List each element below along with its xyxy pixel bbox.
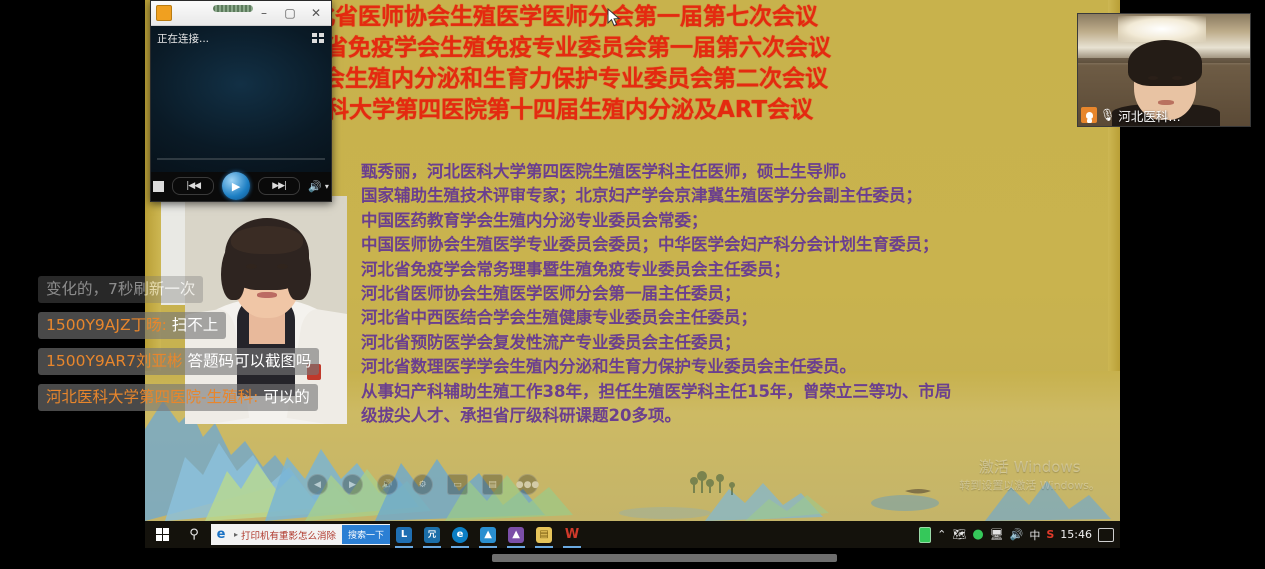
chat-bubble: 河北医科大学第四医院-生殖科: 可以的 bbox=[38, 384, 318, 411]
player-app-icon bbox=[156, 5, 172, 21]
volume-icon[interactable]: 🔊 bbox=[308, 180, 322, 193]
edge-icon: e bbox=[452, 527, 468, 543]
chat-row: 1500Y9AJZ丁旸: 扫不上 bbox=[38, 312, 360, 339]
bio-line: 级拔尖人才、承担省厅级科研课题20多项。 bbox=[361, 404, 1101, 428]
bio-line: 国家辅助生殖技术评审专家；北京妇产学会京津冀生殖医学分会副主任委员； bbox=[361, 184, 1101, 208]
player-status-text: 正在连接... bbox=[157, 31, 209, 46]
volume-caret-icon[interactable]: ▾ bbox=[325, 182, 329, 191]
media-icon: ▲ bbox=[480, 527, 496, 543]
taskbar-app-explorer[interactable]: ▤ bbox=[530, 521, 558, 548]
store-icon: 冗 bbox=[424, 527, 440, 543]
watermark-line1: 激活 Windows bbox=[959, 456, 1100, 477]
bio-line: 河北省免疫学会常务理事暨生殖免疫专业委员会主任委员； bbox=[361, 258, 1101, 282]
webcam-thumbnail[interactable]: 🎙 河北医科… bbox=[1077, 13, 1251, 127]
search-submit-button[interactable]: 搜索一下 bbox=[342, 525, 390, 544]
webcam-eye-right bbox=[1172, 76, 1182, 80]
bio-line: 中国医师协会生殖医学专业委员会委员；中华医学会妇产科分会计划生育委员； bbox=[361, 233, 1101, 257]
photo-bangs bbox=[231, 226, 303, 254]
mouse-cursor bbox=[607, 8, 621, 28]
video-settings-icon[interactable]: ⚙ bbox=[412, 474, 433, 495]
microphone-icon[interactable]: 🎙 bbox=[1100, 108, 1115, 122]
slide-title-line-3: 理医学学会生殖内分泌和生育力保护专业委员会第二次会议 bbox=[230, 64, 1070, 95]
chat-row: 河北医科大学第四医院-生殖科: 可以的 bbox=[38, 384, 360, 411]
volume-control[interactable]: 🔊 ▾ bbox=[308, 180, 329, 193]
video-overlay-controls[interactable]: ◀ ▶ 🔊 ⚙ ▭ ▤ ●●● bbox=[307, 474, 538, 495]
chat-bubble: 1500Y9AJZ丁旸: 扫不上 bbox=[38, 312, 226, 339]
horizontal-scrollbar-track[interactable] bbox=[0, 548, 1265, 569]
stop-button[interactable] bbox=[153, 181, 164, 192]
player-video-area[interactable]: 正在连接... bbox=[151, 26, 331, 172]
ime-indicator[interactable]: 中 bbox=[1029, 527, 1040, 543]
previous-button[interactable]: |◀◀ bbox=[172, 177, 214, 195]
close-button[interactable]: ✕ bbox=[303, 1, 329, 25]
shield-icon[interactable]: ● bbox=[972, 527, 983, 542]
wps-icon: W bbox=[564, 527, 580, 543]
chat-row: 1500Y9AR7刘亚彬 答题码可以截图吗 bbox=[38, 348, 360, 375]
window-buttons: – ▢ ✕ bbox=[251, 1, 329, 25]
player-layout-icon[interactable] bbox=[312, 33, 324, 43]
snipaste-icon[interactable]: S bbox=[1046, 528, 1054, 541]
chat-username: 河北医科大学第四医院-生殖科: bbox=[46, 388, 258, 406]
chat-message-text: 答题码可以截图吗 bbox=[187, 352, 311, 370]
search-suggestion-bar[interactable]: e ▸ 打印机有重影怎么消除 搜索一下 bbox=[211, 524, 390, 545]
windows-activation-watermark: 激活 Windows 转到设置以激活 Windows。 bbox=[959, 456, 1100, 493]
video-volume-icon[interactable]: 🔊 bbox=[377, 474, 398, 495]
chat-row: 变化的，7秒刷新一次 bbox=[38, 276, 360, 303]
slide-title-line-4: 北医科大学第四医院第十四届生殖内分泌及ART会议 bbox=[280, 95, 1070, 126]
windows-taskbar: ⚲ e ▸ 打印机有重影怎么消除 搜索一下 L 冗 e ▲ ▲ ▤ W bbox=[145, 521, 1120, 548]
photos-icon: ▲ bbox=[508, 527, 524, 543]
taskbar-app-lync[interactable]: L bbox=[390, 521, 418, 548]
player-titlebar[interactable]: – ▢ ✕ bbox=[151, 1, 331, 26]
bio-line: 甄秀丽，河北医科大学第四医院生殖医学科主任医师，硕士生导师。 bbox=[361, 160, 1101, 184]
search-query-text: 打印机有重影怎么消除 bbox=[241, 528, 342, 542]
photo-eye-right bbox=[277, 264, 288, 269]
chat-username: 1500Y9AR7刘亚彬 bbox=[46, 352, 183, 370]
bio-line: 从事妇产科辅助生殖工作38年，担任生殖医学科主任15年，曾荣立三等功、市局 bbox=[361, 380, 1101, 404]
start-button[interactable] bbox=[145, 521, 179, 548]
player-controls: |◀◀ ▶ ▶▶| 🔊 ▾ bbox=[151, 172, 331, 200]
file-explorer-icon: ▤ bbox=[536, 527, 552, 543]
photo-eye-left bbox=[246, 264, 257, 269]
bio-line: 河北省数理医学学会生殖内分泌和生育力保护专业委员会主任委员。 bbox=[361, 355, 1101, 379]
next-button[interactable]: ▶▶| bbox=[258, 177, 300, 195]
bio-line: 河北省预防医学会复发性流产专业委员会主任委员； bbox=[361, 331, 1101, 355]
video-previous-icon[interactable]: ◀ bbox=[307, 474, 328, 495]
system-tray: ⌃ 🗺 ● 🖥 🔊 中 S 15:46 bbox=[919, 527, 1120, 543]
display-icon[interactable]: 🖥 bbox=[990, 528, 1004, 541]
search-icon[interactable]: ⚲ bbox=[179, 521, 209, 548]
slide-bio-block: 甄秀丽，河北医科大学第四医院生殖医学科主任医师，硕士生导师。 国家辅助生殖技术评… bbox=[361, 160, 1101, 428]
slide-title-line-2: 北省免疫学会生殖免疫专业委员会第一届第六次会议 bbox=[302, 33, 1070, 64]
play-button[interactable]: ▶ bbox=[222, 172, 250, 200]
taskbar-app-wps[interactable]: W bbox=[558, 521, 586, 548]
chat-message-text: 扫不上 bbox=[172, 316, 219, 334]
notification-center-icon[interactable] bbox=[1098, 528, 1114, 542]
taskbar-app-edge[interactable]: e bbox=[446, 521, 474, 548]
player-drag-handle[interactable] bbox=[213, 5, 253, 12]
webcam-nameplate: 🎙 河北医科… bbox=[1078, 104, 1181, 126]
webcam-hair bbox=[1128, 40, 1202, 86]
video-more-icon[interactable]: ●●● bbox=[517, 474, 538, 495]
watermark-line2: 转到设置以激活 Windows。 bbox=[959, 477, 1100, 493]
volume-icon[interactable]: 🔊 bbox=[1010, 528, 1024, 541]
person-icon bbox=[1081, 107, 1097, 123]
chat-username: 1500Y9AJZ丁旸: bbox=[46, 316, 167, 334]
windows-logo-icon bbox=[156, 528, 169, 541]
minimize-button[interactable]: – bbox=[251, 1, 277, 25]
horizontal-scrollbar-thumb[interactable] bbox=[492, 554, 837, 562]
taskbar-clock[interactable]: 15:46 bbox=[1060, 528, 1092, 541]
chat-overlay: 变化的，7秒刷新一次 1500Y9AJZ丁旸: 扫不上 1500Y9AR7刘亚彬… bbox=[38, 276, 360, 420]
bio-line: 河北省中西医结合学会生殖健康专业委员会主任委员； bbox=[361, 306, 1101, 330]
slide-title-line-1: 北省医师协会生殖医学医师分会第一届第七次会议 bbox=[312, 2, 1070, 33]
screen-root: 激活 Windows 转到设置以激活 Windows。 ◀ ▶ 🔊 ⚙ ▭ ▤ … bbox=[0, 0, 1265, 569]
show-hidden-icons-chevron[interactable]: ⌃ bbox=[937, 528, 946, 541]
chat-bubble: 1500Y9AR7刘亚彬 答题码可以截图吗 bbox=[38, 348, 319, 375]
webcam-ceiling-light bbox=[1118, 16, 1206, 42]
internet-explorer-icon: e bbox=[211, 527, 231, 542]
webcam-eye-left bbox=[1148, 76, 1158, 80]
taskbar-app-media[interactable]: ▲ bbox=[474, 521, 502, 548]
chat-bubble: 变化的，7秒刷新一次 bbox=[38, 276, 203, 303]
webcam-participant-name: 河北医科… bbox=[1118, 106, 1181, 125]
network-icon[interactable]: 🗺 bbox=[952, 528, 966, 541]
taskbar-app-store[interactable]: 冗 bbox=[418, 521, 446, 548]
bio-line: 中国医药教育学会生殖内分泌专业委员会常委； bbox=[361, 209, 1101, 233]
maximize-button[interactable]: ▢ bbox=[277, 1, 303, 25]
player-seek-bar[interactable] bbox=[157, 158, 325, 160]
caret-icon: ▸ bbox=[231, 530, 241, 539]
video-subtitle-icon[interactable]: ▤ bbox=[482, 474, 503, 495]
taskbar-app-photos[interactable]: ▲ bbox=[502, 521, 530, 548]
chat-message-text: 可以的 bbox=[263, 388, 310, 406]
lync-icon: L bbox=[396, 527, 412, 543]
video-screen-icon[interactable]: ▭ bbox=[447, 474, 468, 495]
battery-icon[interactable] bbox=[919, 527, 931, 543]
media-player-window[interactable]: – ▢ ✕ 正在连接... |◀◀ ▶ ▶▶| 🔊 ▾ bbox=[150, 0, 332, 202]
video-play-icon[interactable]: ▶ bbox=[342, 474, 363, 495]
bio-line: 河北省医师协会生殖医学医师分会第一届主任委员； bbox=[361, 282, 1101, 306]
chat-message-text: 变化的，7秒刷新一次 bbox=[46, 280, 195, 298]
